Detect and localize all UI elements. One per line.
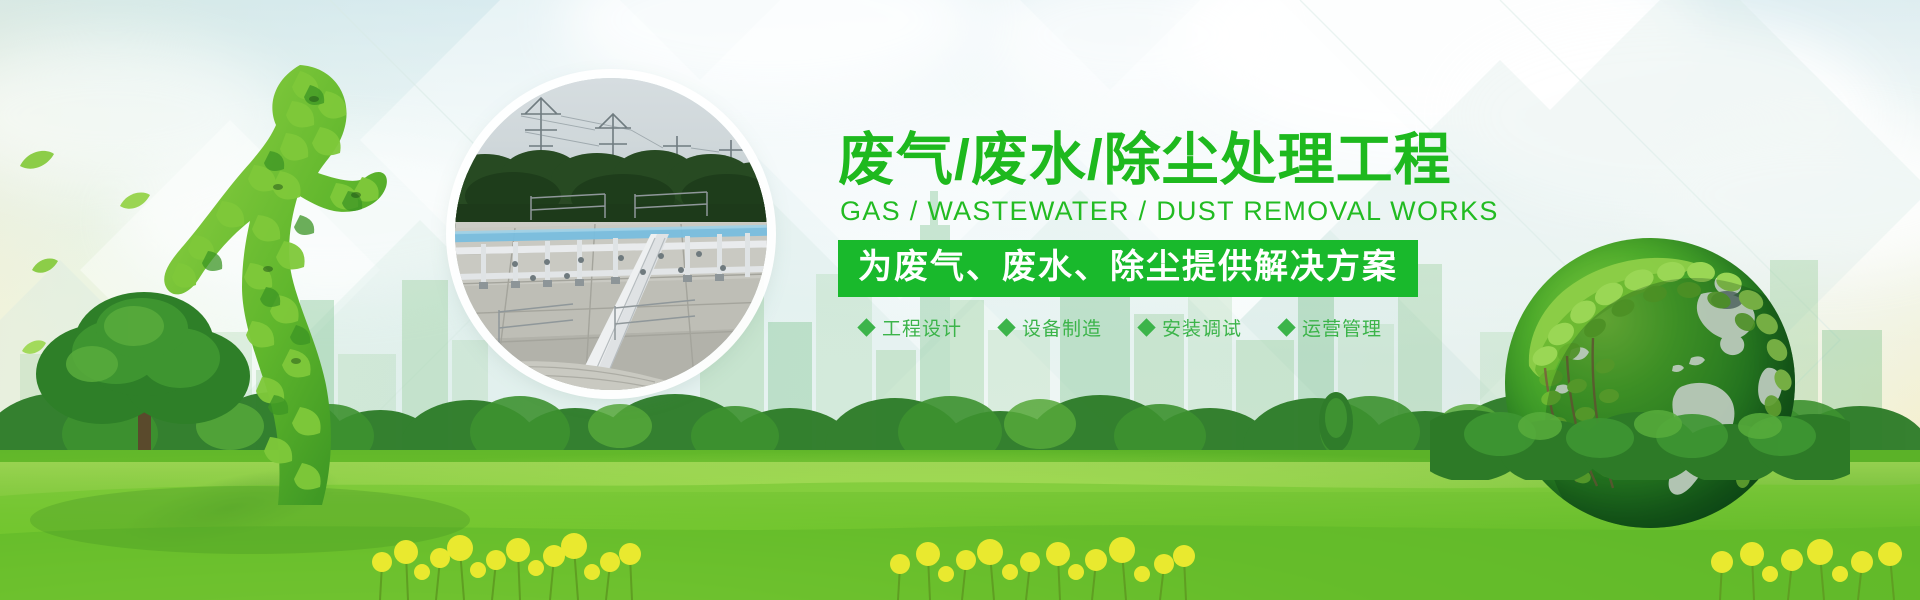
page-title: 废气/废水/除尘处理工程 [838,130,1578,190]
bush-cluster [1430,360,1850,480]
wastewater-plant-photo [455,78,767,390]
list-item[interactable]: 工程设计 [860,314,962,341]
service-label: 安装调试 [1162,314,1242,341]
floating-leaf-icon [22,340,46,355]
service-label: 设备制造 [1022,314,1102,341]
diamond-bullet-icon [857,318,875,336]
service-label: 运营管理 [1302,314,1382,341]
diamond-bullet-icon [1137,318,1155,336]
list-item[interactable]: 设备制造 [1000,314,1102,341]
diamond-bullet-icon [997,318,1015,336]
floating-leaf-icon [32,258,58,274]
floating-leaf-icon [120,192,150,210]
page-subtitle-english: GAS / WASTEWATER / DUST REMOVAL WORKS [840,196,1578,227]
list-item[interactable]: 安装调试 [1140,314,1242,341]
wildflower-cluster [360,524,660,600]
service-label: 工程设计 [882,314,962,341]
wildflower-cluster [1700,530,1920,600]
hero-banner: 废气/废水/除尘处理工程 GAS / WASTEWATER / DUST REM… [0,0,1920,600]
service-list: 工程设计 设备制造 安装调试 运营管理 [860,314,1578,341]
leaf-man-figure-icon [150,55,410,505]
diamond-bullet-icon [1277,318,1295,336]
list-item[interactable]: 运营管理 [1280,314,1382,341]
headline-text-block: 废气/废水/除尘处理工程 GAS / WASTEWATER / DUST REM… [838,130,1578,341]
floating-leaf-icon [20,150,54,170]
slogan-bar: 为废气、废水、除尘提供解决方案 [838,240,1418,297]
wildflower-cluster [880,528,1200,600]
